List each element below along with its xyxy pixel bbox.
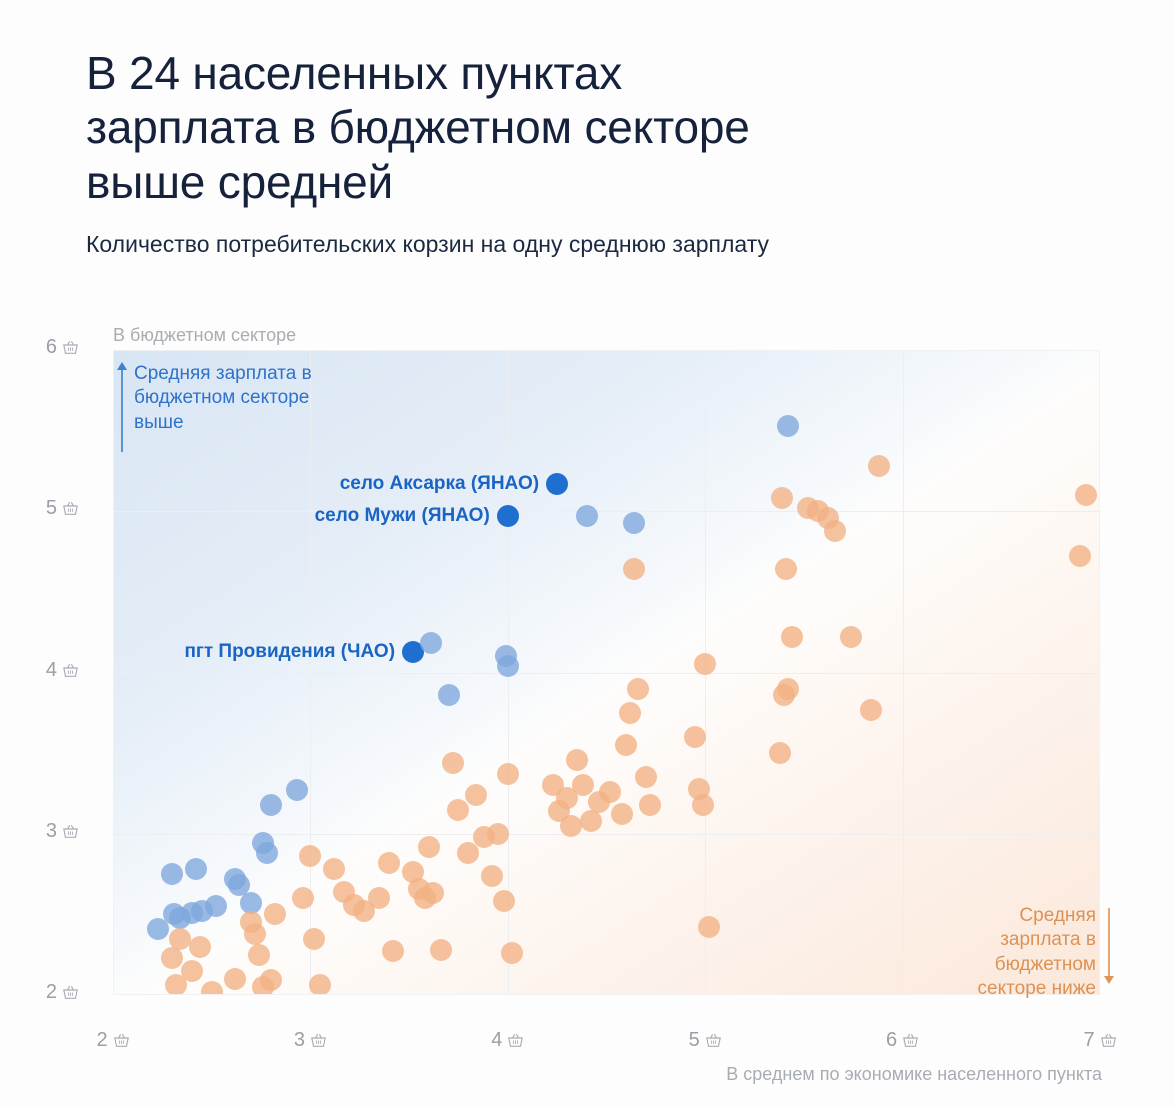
data-point[interactable] [465,784,487,806]
data-point[interactable] [286,779,308,801]
data-point[interactable] [576,505,598,527]
x-tick-5: 5 [670,1029,740,1052]
arrow-up-icon-line [121,368,123,452]
shopping-basket-icon [507,1033,524,1048]
data-point[interactable] [623,558,645,580]
x-tick-label: 6 [886,1029,897,1052]
data-point[interactable] [382,940,404,962]
data-point[interactable] [181,960,203,982]
data-point[interactable] [438,684,460,706]
data-point[interactable] [420,632,442,654]
scatter-chart: В бюджетном секторе 23456 234567 пгт Про… [0,0,1174,1108]
data-point[interactable] [248,944,270,966]
x-tick-6: 6 [868,1029,938,1052]
data-point[interactable] [169,928,191,950]
data-point[interactable] [824,520,846,542]
data-point[interactable] [189,936,211,958]
x-tick-label: 5 [689,1029,700,1052]
data-point[interactable] [497,763,519,785]
data-point[interactable] [775,558,797,580]
data-point[interactable] [860,699,882,721]
y-tick-6: 6 [19,336,79,359]
data-point[interactable] [868,455,890,477]
data-point[interactable] [442,752,464,774]
shopping-basket-icon [705,1033,722,1048]
y-tick-label: 5 [46,497,57,520]
x-tick-label: 3 [294,1029,305,1052]
data-point[interactable] [260,794,282,816]
shopping-basket-icon [310,1033,327,1048]
data-point[interactable] [560,815,582,837]
data-point[interactable] [493,890,515,912]
data-point[interactable] [497,655,519,677]
data-point[interactable] [615,734,637,756]
data-point[interactable] [599,781,621,803]
data-point[interactable] [264,903,286,925]
x-tick-label: 4 [491,1029,502,1052]
data-point[interactable] [205,895,227,917]
data-point[interactable] [781,626,803,648]
data-point[interactable] [698,916,720,938]
data-point[interactable] [292,887,314,909]
data-point[interactable] [566,749,588,771]
data-point[interactable] [840,626,862,648]
x-tick-label: 7 [1083,1029,1094,1052]
shopping-basket-icon [62,340,79,355]
data-point[interactable] [422,882,444,904]
data-point[interactable] [771,487,793,509]
y-tick-4: 4 [19,659,79,682]
data-point[interactable] [487,823,509,845]
annotation-above: Средняя зарплата в бюджетном секторе выш… [134,362,314,435]
data-point[interactable] [692,794,714,816]
shopping-basket-icon [62,824,79,839]
x-tick-4: 4 [473,1029,543,1052]
gridline-vertical [903,350,904,995]
shopping-basket-icon [62,663,79,678]
data-point[interactable] [303,928,325,950]
shopping-basket-icon [62,985,79,1000]
shopping-basket-icon [113,1033,130,1048]
point-label: пгт Провидения (ЧАО) [184,641,395,663]
shopping-basket-icon [902,1033,919,1048]
data-point[interactable] [323,858,345,880]
point-label: село Мужи (ЯНАО) [315,505,490,527]
x-tick-2: 2 [78,1029,148,1052]
data-point[interactable] [299,845,321,867]
data-point[interactable] [684,726,706,748]
data-point[interactable] [418,836,440,858]
y-tick-label: 2 [46,981,57,1004]
data-point[interactable] [260,969,282,991]
shopping-basket-icon [1100,1033,1117,1048]
data-point[interactable] [309,974,331,995]
point-label: село Аксарка (ЯНАО) [340,473,539,495]
arrow-down-icon-line [1108,908,1110,980]
data-point[interactable] [430,939,452,961]
y-tick-3: 3 [19,820,79,843]
annotation-below-text: Средняя зарплата в бюджетном секторе ниж… [978,905,1096,999]
y-tick-5: 5 [19,497,79,520]
x-tick-label: 2 [96,1029,107,1052]
plot-area [113,350,1100,995]
data-point-highlighted[interactable] [497,505,519,527]
shopping-basket-icon [62,501,79,516]
data-point[interactable] [580,810,602,832]
data-point[interactable] [639,794,661,816]
arrow-down-icon [1104,976,1114,984]
data-point[interactable] [161,947,183,969]
data-point[interactable] [244,923,266,945]
y-tick-label: 6 [46,336,57,359]
data-point[interactable] [777,678,799,700]
data-point[interactable] [378,852,400,874]
annotation-below: Средняя зарплата в бюджетном секторе ниж… [946,904,1096,1001]
y-tick-label: 4 [46,659,57,682]
gridline-horizontal [113,673,1100,674]
data-point[interactable] [161,863,183,885]
data-point[interactable] [457,842,479,864]
y-tick-2: 2 [19,981,79,1004]
data-point[interactable] [481,865,503,887]
gridline-vertical [113,350,114,995]
x-axis-caption: В среднем по экономике населенного пункт… [0,1064,1102,1085]
data-point[interactable] [611,803,633,825]
data-point[interactable] [501,942,523,964]
data-point[interactable] [447,799,469,821]
data-point[interactable] [1069,545,1091,567]
data-point[interactable] [256,842,278,864]
data-point[interactable] [368,887,390,909]
data-point-highlighted[interactable] [546,473,568,495]
y-tick-label: 3 [46,820,57,843]
x-tick-7: 7 [1065,1029,1135,1052]
annotation-above-text: Средняя зарплата в бюджетном секторе выш… [134,363,312,433]
data-point[interactable] [619,702,641,724]
data-point[interactable] [769,742,791,764]
arrow-up-icon [117,362,127,370]
x-tick-3: 3 [275,1029,345,1052]
gridline-horizontal [113,511,1100,512]
data-point[interactable] [185,858,207,880]
data-point[interactable] [1075,484,1097,506]
data-point[interactable] [627,678,649,700]
y-axis-caption: В бюджетном секторе [113,325,296,346]
data-point[interactable] [777,415,799,437]
data-point[interactable] [635,766,657,788]
data-point[interactable] [623,512,645,534]
data-point[interactable] [694,653,716,675]
gridline-horizontal [113,350,1100,351]
data-point[interactable] [224,968,246,990]
